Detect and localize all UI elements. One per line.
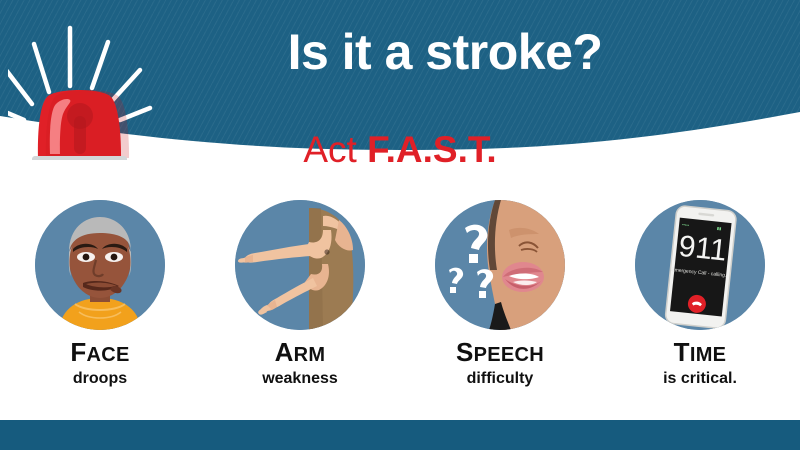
card-subtitle-speech: difficulty	[467, 371, 534, 387]
page-title: Is it a stroke?	[0, 23, 800, 81]
fast-cards-row: FACE droops	[0, 200, 800, 390]
drooping-face-icon	[35, 200, 165, 330]
face-circle	[35, 200, 165, 330]
card-caption-time: TIME	[674, 339, 727, 365]
card-face: FACE droops	[0, 200, 200, 390]
card-subtitle-time: is critical.	[663, 371, 737, 387]
card-subtitle-arm: weakness	[262, 371, 338, 387]
card-caption-face: FACE	[70, 339, 129, 365]
phone-carrier-text: •••••	[682, 222, 690, 228]
time-circle: ••••• ▮▮ 911 Emergency Call - calling...	[635, 200, 765, 330]
card-caption-speech: SPEECH	[456, 339, 544, 365]
speech-circle	[435, 200, 565, 330]
phone-number-text: 911	[677, 230, 728, 268]
caption-rest: PEECH	[474, 344, 544, 366]
caption-rest: IME	[690, 344, 726, 366]
caption-rest: RM	[294, 344, 326, 366]
caption-initial: F	[70, 337, 86, 367]
speech-difficulty-icon	[435, 200, 565, 330]
phone-911-icon: ••••• ▮▮ 911 Emergency Call - calling...	[635, 200, 765, 330]
act-word: Act	[303, 129, 367, 170]
footer-band	[0, 420, 800, 450]
card-subtitle-face: droops	[73, 371, 127, 387]
card-speech: SPEECH difficulty	[400, 200, 600, 390]
caption-initial: A	[275, 337, 294, 367]
drooping-arm-icon	[235, 200, 365, 330]
phone-battery-text: ▮▮	[717, 226, 722, 231]
card-arm: ARM weakness	[200, 200, 400, 390]
fast-acronym: F.A.S.T.	[367, 129, 497, 170]
card-caption-arm: ARM	[275, 339, 326, 365]
caption-initial: T	[674, 337, 690, 367]
act-fast-tagline: Act F.A.S.T.	[0, 129, 800, 171]
card-time: ••••• ▮▮ 911 Emergency Call - calling...…	[600, 200, 800, 390]
infographic-stage: Is it a stroke? Act F.A.S.T.	[0, 0, 800, 450]
caption-initial: S	[456, 337, 474, 367]
arm-circle	[235, 200, 365, 330]
caption-rest: ACE	[87, 344, 130, 366]
